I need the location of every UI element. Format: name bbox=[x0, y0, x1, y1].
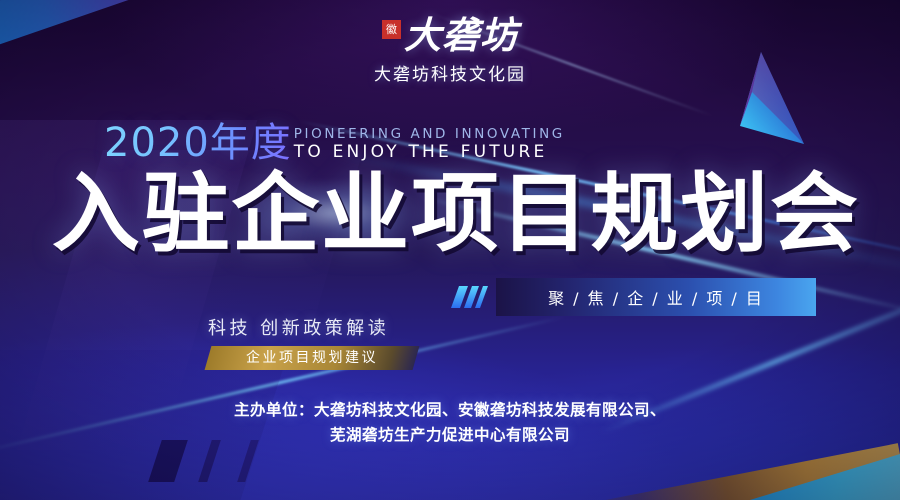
poster-canvas: 徽大砻坊 大砻坊科技文化园 2020年度 PIONEERING AND INNO… bbox=[0, 0, 900, 500]
organizer-footer: 主办单位：大砻坊科技文化园、安徽砻坊科技发展有限公司、 芜湖砻坊生产力促进中心有… bbox=[0, 398, 900, 448]
organizer-footer-line2: 芜湖砻坊生产力促进中心有限公司 bbox=[0, 423, 900, 448]
tagline-secondary: 企业项目规划建议 bbox=[208, 346, 416, 370]
slash-marks-icon bbox=[455, 286, 484, 308]
tagline-primary: 科技 创新政策解读 bbox=[208, 314, 416, 340]
headline-year: 2020年度 bbox=[104, 122, 292, 164]
headline-english-line1: PIONEERING AND INNOVATING bbox=[294, 126, 565, 142]
tagline-block: 科技 创新政策解读 企业项目规划建议 bbox=[208, 314, 416, 370]
brand-logo-row: 徽大砻坊 bbox=[382, 14, 518, 56]
poster-content: 徽大砻坊 大砻坊科技文化园 2020年度 PIONEERING AND INNO… bbox=[0, 0, 900, 500]
headline-english-line2: TO ENJOY THE FUTURE bbox=[294, 142, 565, 162]
headline-year-row: 2020年度 PIONEERING AND INNOVATING TO ENJO… bbox=[104, 122, 565, 164]
headline-english-block: PIONEERING AND INNOVATING TO ENJOY THE F… bbox=[294, 126, 565, 164]
tagline-secondary-wrap: 企业项目规划建议 bbox=[208, 346, 416, 370]
focus-banner: 聚 / 焦 / 企 / 业 / 项 / 目 bbox=[455, 278, 816, 316]
brand-subtitle: 大砻坊科技文化园 bbox=[0, 60, 900, 85]
page-title: 入驻企业项目规划会 bbox=[52, 168, 868, 260]
brand-name: 大砻坊 bbox=[404, 14, 518, 56]
brand-logo-block: 徽大砻坊 大砻坊科技文化园 bbox=[0, 14, 900, 85]
organizer-footer-line1: 主办单位：大砻坊科技文化园、安徽砻坊科技发展有限公司、 bbox=[0, 398, 900, 423]
seal-stamp-icon: 徽 bbox=[382, 20, 401, 39]
focus-banner-label: 聚 / 焦 / 企 / 业 / 项 / 目 bbox=[496, 278, 816, 316]
